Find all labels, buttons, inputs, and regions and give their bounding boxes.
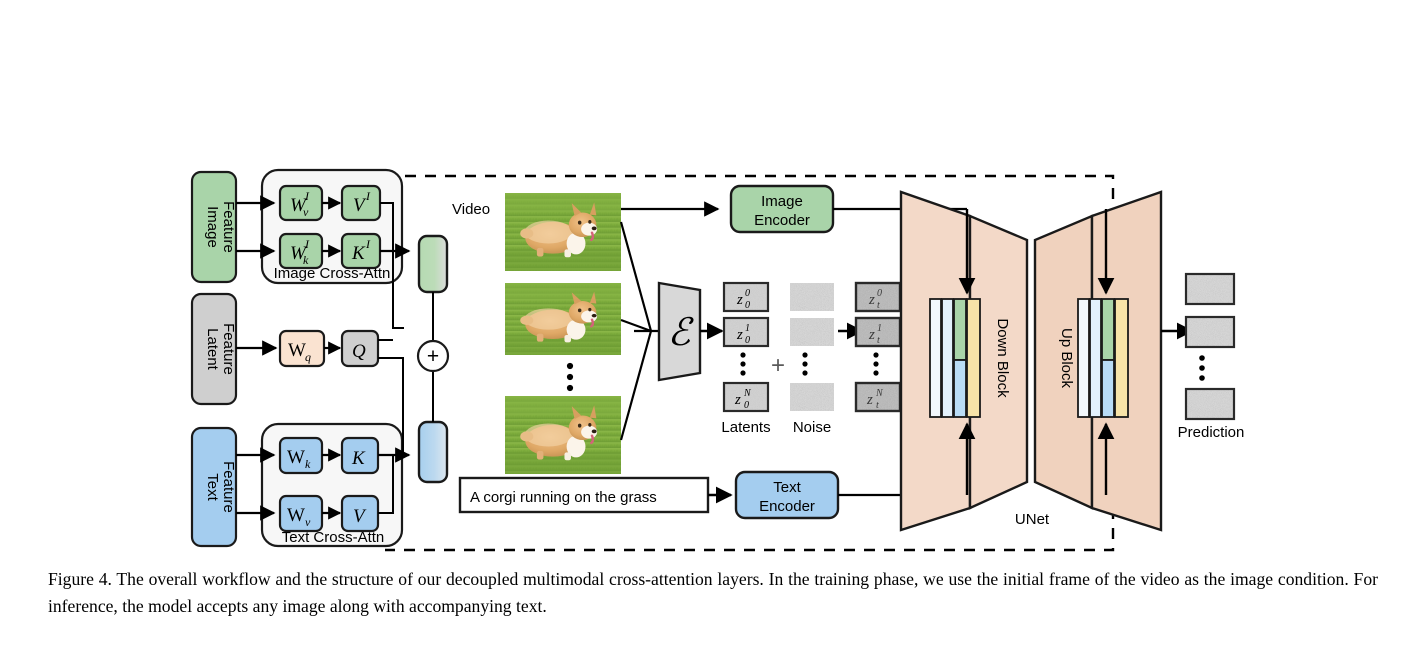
latent-z0-1-label: z — [736, 327, 743, 343]
latent-z0-1: z 0 1 — [724, 318, 768, 346]
text-wv-block[interactable]: W v — [280, 496, 322, 531]
vae-encoder-symbol: ℰ — [667, 312, 694, 354]
noisy-latent-zt-1-label: z — [868, 327, 875, 343]
latent-z0-n-sub: 0 — [744, 400, 749, 411]
image-feature-label-line2: Feature — [220, 201, 237, 253]
figure-number: Figure 4. — [48, 569, 112, 589]
text-feature-label-line1: Text — [204, 473, 221, 501]
image-v-block[interactable]: V I — [342, 186, 380, 220]
latent-z0-n-sup: N — [743, 388, 752, 399]
text-attn-output-bar — [419, 422, 447, 482]
latent-wq-label: W — [288, 340, 306, 361]
text-k-label: K — [351, 448, 366, 469]
vae-encoder: ℰ — [659, 283, 700, 380]
text-k-block[interactable]: K — [342, 438, 378, 473]
video-frame-1 — [505, 193, 621, 271]
prompt-textbox[interactable]: A corgi running on the grass — [460, 478, 708, 512]
noisy-latent-zt-0-label: z — [868, 292, 875, 308]
image-k-label: K — [351, 243, 366, 264]
image-encoder-block[interactable]: Image Encoder — [731, 186, 833, 232]
text-wk-block[interactable]: W k — [280, 438, 322, 473]
noisy-latent-zt-0: z t 0 — [856, 283, 900, 311]
latent-wq-subscript: q — [305, 350, 311, 364]
text-wv-label: W — [287, 505, 305, 526]
noisy-latent-zt-0-sub: t — [877, 300, 880, 311]
text-feature-label-line2: Feature — [220, 461, 237, 513]
sum-operator: + — [418, 341, 448, 371]
text-encoder-block[interactable]: Text Encoder — [736, 472, 838, 518]
latent-noise-plus: + — [771, 352, 785, 379]
text-feature-block[interactable]: Text Feature — [192, 428, 237, 546]
noisy-latent-zt-1-sub: t — [877, 335, 880, 346]
image-encoder-label-line1: Image — [761, 193, 803, 210]
noise-patch-n — [790, 383, 834, 411]
noisy-latent-zt-n-sub: t — [876, 400, 879, 411]
text-encoder-label-line1: Text — [773, 479, 801, 496]
latent-feature-block[interactable]: Latent Feature — [192, 294, 237, 404]
image-k-block[interactable]: K I — [342, 234, 380, 268]
latent-q-label: Q — [352, 341, 366, 362]
prediction-ellipsis — [1199, 355, 1205, 381]
latent-z0-0: z 0 0 — [724, 283, 768, 311]
prompt-text: A corgi running on the grass — [470, 489, 657, 506]
unet-label: UNet — [1015, 511, 1050, 528]
image-wv-subscript: v — [303, 205, 309, 219]
sum-operator-label: + — [427, 345, 439, 368]
noisy-latent-zt-0-sup: 0 — [877, 288, 882, 299]
latent-feature-label-line1: Latent — [204, 328, 221, 371]
latent-feature-label-line2: Feature — [220, 323, 237, 375]
video-frame-2 — [505, 283, 621, 355]
latent-z0-0-label: z — [736, 292, 743, 308]
image-wv-block[interactable]: W v I — [280, 186, 322, 220]
prediction-label: Prediction — [1178, 424, 1245, 441]
up-block[interactable] — [1078, 299, 1128, 417]
down-block[interactable] — [930, 299, 980, 417]
down-block-label: Down Block — [994, 318, 1011, 398]
latents-label: Latents — [721, 419, 770, 436]
image-cross-attn-panel-label: Image Cross-Attn — [274, 265, 391, 282]
figure-caption-text: The overall workflow and the structure o… — [48, 569, 1378, 616]
up-block-label: Up Block — [1058, 328, 1075, 389]
image-feature-block[interactable]: Image Feature — [192, 172, 237, 282]
noisy-latent-zt-1: z t 1 — [856, 318, 900, 346]
text-wk-label: W — [287, 447, 305, 468]
video-label: Video — [452, 201, 490, 218]
noisy-latent-zt-1-sup: 1 — [877, 323, 882, 334]
prediction-patch-n — [1186, 389, 1234, 419]
prediction-patch-0 — [1186, 274, 1234, 304]
latent-z0-n: z 0 N — [724, 383, 768, 411]
text-encoder-label-line2: Encoder — [759, 498, 815, 515]
figure-diagram: Image Feature Latent Feature Text Featur… — [0, 0, 1422, 650]
noise-label: Noise — [793, 419, 831, 436]
text-wv-subscript: v — [305, 515, 311, 529]
latent-wq-block[interactable]: W q — [280, 331, 324, 366]
noisy-latent-zt-n: z t N — [856, 383, 900, 411]
noisy-latent-zt-n-label: z — [866, 392, 873, 408]
latent-z0-1-sub: 0 — [745, 335, 750, 346]
image-wk-block[interactable]: W k I — [280, 234, 322, 268]
latent-ellipsis — [740, 352, 745, 375]
latent-z0-0-sup: 0 — [745, 288, 750, 299]
noise-patch-1 — [790, 318, 834, 346]
video-frame-n — [505, 396, 621, 474]
latent-z0-1-sup: 1 — [745, 323, 750, 334]
latent-q-block[interactable]: Q — [342, 331, 378, 366]
noisy-latent-ellipsis — [873, 352, 878, 375]
noise-patch-0 — [790, 283, 834, 311]
prediction-patch-1 — [1186, 317, 1234, 347]
image-encoder-label-line2: Encoder — [754, 212, 810, 229]
image-attn-output-bar — [419, 236, 447, 292]
image-feature-label-line1: Image — [204, 206, 221, 248]
text-v-block[interactable]: V — [342, 496, 378, 531]
noise-ellipsis — [802, 352, 807, 375]
text-cross-attn-panel-label: Text Cross-Attn — [282, 529, 385, 546]
latent-z0-0-sub: 0 — [745, 300, 750, 311]
noisy-latent-zt-n-sup: N — [875, 388, 884, 399]
figure-caption: Figure 4. The overall workflow and the s… — [48, 566, 1378, 619]
video-frames-ellipsis — [567, 363, 573, 391]
text-wk-subscript: k — [305, 457, 311, 471]
latent-z0-n-label: z — [734, 392, 741, 408]
